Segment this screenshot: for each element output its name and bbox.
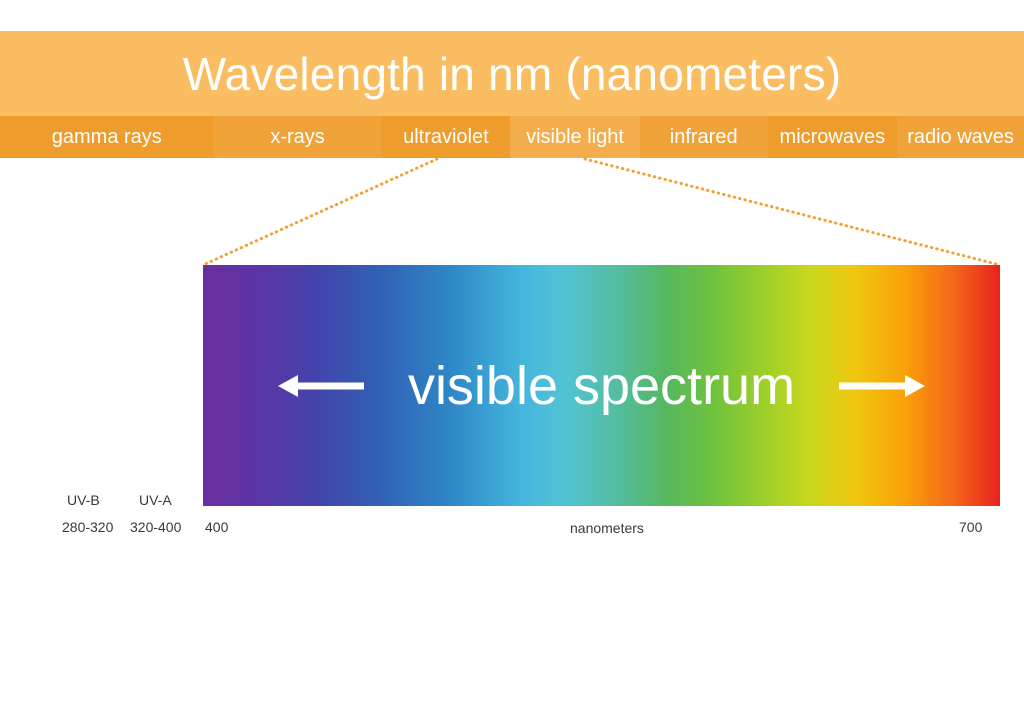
band-segment-ultraviolet[interactable]: ultraviolet — [382, 116, 511, 158]
axis-end-value: 700 — [959, 519, 982, 535]
band-segment-label: visible light — [526, 126, 624, 149]
visible-spectrum-gradient: visible spectrum — [203, 265, 1000, 506]
connector-line-left — [203, 159, 437, 265]
band-segment-label: radio waves — [907, 126, 1014, 149]
uv-b-label: UV-B — [67, 492, 100, 508]
band-segment-visible-light[interactable]: visible light — [510, 116, 640, 158]
arrow-right-icon — [839, 369, 925, 403]
arrow-left-icon — [278, 369, 364, 403]
band-segment-label: x-rays — [270, 126, 324, 149]
axis-start-value: 400 — [205, 519, 228, 535]
band-segment-radio-waves[interactable]: radio waves — [897, 116, 1024, 158]
visible-spectrum-label: visible spectrum — [408, 359, 795, 413]
band-segment-microwaves[interactable]: microwaves — [768, 116, 898, 158]
band-segment-label: microwaves — [780, 126, 886, 149]
band-segment-gamma-rays[interactable]: gamma rays — [0, 116, 214, 158]
uv-a-range-value: 320-400 — [130, 519, 181, 535]
band-segment-x-rays[interactable]: x-rays — [214, 116, 382, 158]
uv-a-label: UV-A — [139, 492, 172, 508]
electromagnetic-spectrum-band: gamma rays x-rays ultraviolet visible li… — [0, 116, 1024, 158]
connector-line-right — [585, 159, 1000, 265]
title-bar: Wavelength in nm (nanometers) — [0, 31, 1024, 116]
axis-unit-label: nanometers — [570, 520, 644, 536]
band-segment-label: infrared — [670, 126, 738, 149]
band-segment-infrared[interactable]: infrared — [640, 116, 768, 158]
band-segment-label: ultraviolet — [403, 126, 489, 149]
spectrum-label-row: visible spectrum — [203, 265, 1000, 506]
uv-b-range-value: 280-320 — [62, 519, 113, 535]
page-title: Wavelength in nm (nanometers) — [183, 51, 842, 97]
band-segment-label: gamma rays — [52, 126, 162, 149]
